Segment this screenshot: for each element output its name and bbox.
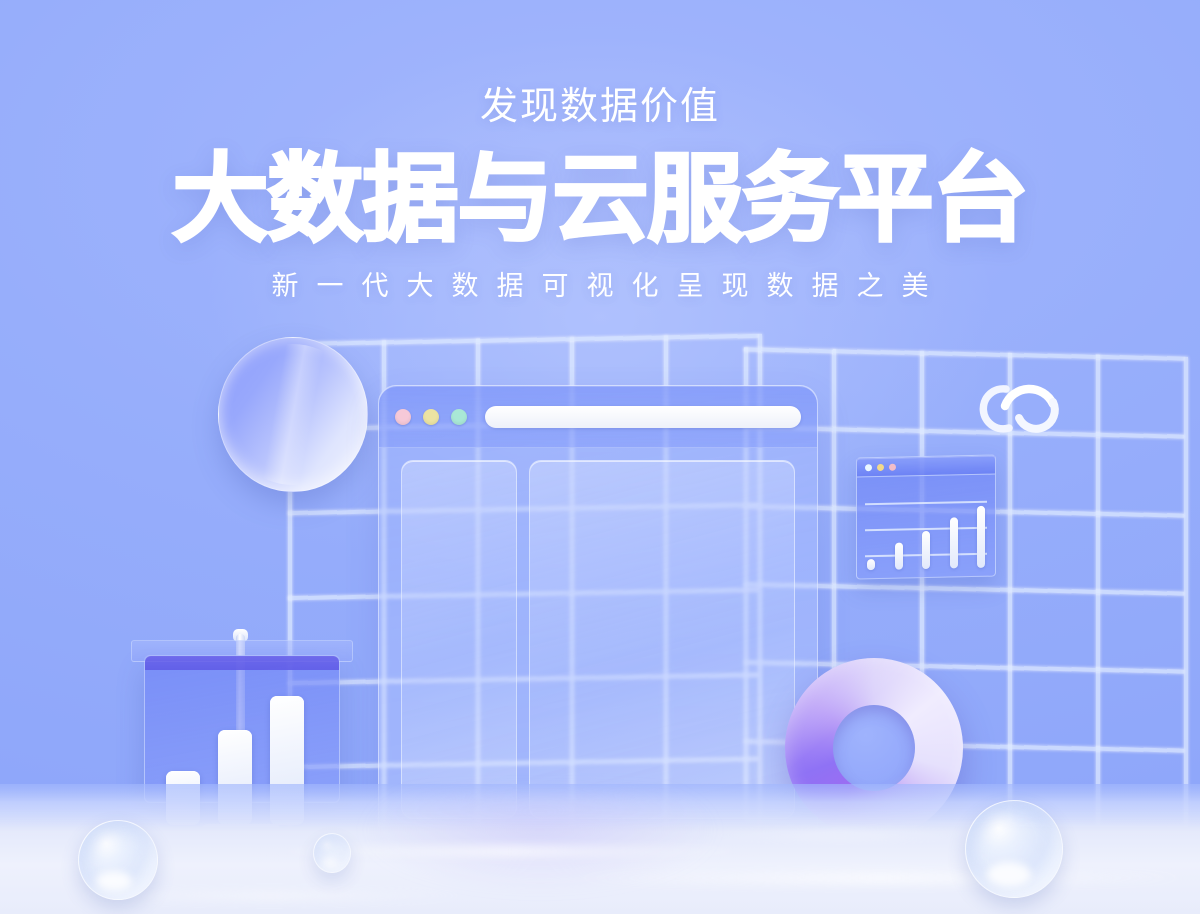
- glass-sphere: [313, 833, 351, 873]
- page-title: 大数据与云服务平台: [0, 150, 1200, 250]
- panel-header-strip: [145, 656, 339, 670]
- close-dot-icon[interactable]: [865, 464, 872, 471]
- address-bar-input[interactable]: [485, 406, 801, 428]
- hero-eyebrow: 发现数据价值: [0, 86, 1200, 130]
- maximize-dot-icon[interactable]: [889, 463, 896, 470]
- maximize-dot-icon[interactable]: [451, 409, 467, 425]
- minimize-dot-icon[interactable]: [423, 409, 439, 425]
- glass-sphere: [965, 800, 1063, 898]
- hero-text-block: 发现数据价值 大数据与云服务平台 新一代大数据可视化呈现数据之美: [0, 86, 1200, 303]
- chart-card-body: [857, 475, 995, 579]
- chart-bars: [867, 484, 985, 570]
- close-dot-icon[interactable]: [395, 409, 411, 425]
- grid-line-horizontal: [744, 347, 1184, 360]
- glass-disc: [218, 337, 368, 492]
- sidebar-pane: [401, 460, 517, 819]
- hero-tagline: 新一代大数据可视化呈现数据之美: [0, 264, 1200, 303]
- content-pane: [529, 460, 795, 819]
- chart-bar: [950, 518, 958, 569]
- cloud-icon: [975, 360, 1071, 438]
- chart-bar: [977, 506, 985, 568]
- grid-line-vertical: [1184, 357, 1188, 827]
- chart-bar: [867, 559, 875, 570]
- chart-bar: [922, 531, 930, 569]
- minimize-dot-icon[interactable]: [877, 463, 884, 470]
- glass-sphere: [78, 820, 158, 900]
- floor-streak: [560, 872, 1200, 884]
- chart-window-card[interactable]: [856, 455, 996, 580]
- floor-streak: [690, 832, 990, 838]
- grid-line-horizontal: [288, 334, 758, 346]
- chart-bar: [895, 543, 903, 570]
- browser-window-mockup[interactable]: [378, 385, 818, 840]
- browser-titlebar: [379, 386, 817, 448]
